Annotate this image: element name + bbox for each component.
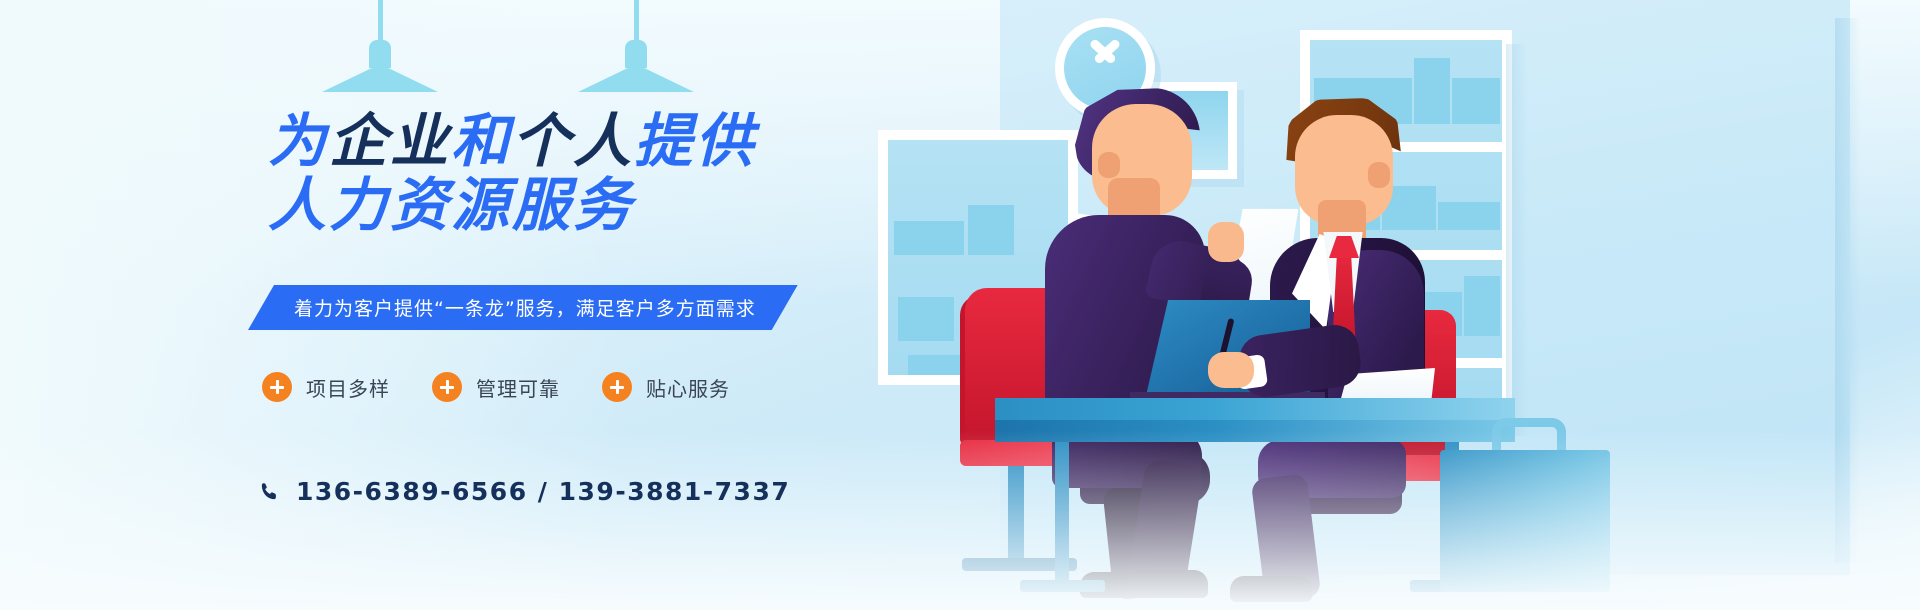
plus-icon xyxy=(262,372,292,402)
feature-label: 管理可靠 xyxy=(476,373,560,402)
lamp-cord xyxy=(634,0,639,42)
plus-icon xyxy=(602,372,632,402)
subtitle-text: 着力为客户提供“一条龙”服务，满足客户多方面需求 xyxy=(294,294,756,321)
phone-number-text: 136-6389-6566 / 139-3881-7337 xyxy=(296,477,790,506)
phone-icon xyxy=(258,481,280,503)
lamp-cord xyxy=(378,0,383,42)
feature-label: 贴心服务 xyxy=(646,373,730,402)
left-person-hand-upper xyxy=(1208,222,1244,262)
headline-seg: 提供 xyxy=(634,107,756,175)
feature-item[interactable]: 贴心服务 xyxy=(602,372,730,402)
subtitle-banner: 着力为客户提供“一条龙”服务，满足客户多方面需求 xyxy=(248,285,798,330)
hr-service-banner: 为企业和个人提供 人力资源服务 着力为客户提供“一条龙”服务，满足客户多方面需求… xyxy=(0,0,1920,610)
headline-seg: 人力资源服务 xyxy=(268,171,634,239)
feature-item[interactable]: 项目多样 xyxy=(262,372,390,402)
headline-line-2: 人力资源服务 xyxy=(268,158,634,242)
pendant-lamp-icon xyxy=(322,0,438,95)
lamp-shade xyxy=(578,64,694,92)
plus-icon xyxy=(432,372,462,402)
bookshelf-shadow xyxy=(1506,44,1528,436)
feature-item[interactable]: 管理可靠 xyxy=(432,372,560,402)
feature-label: 项目多样 xyxy=(306,373,390,402)
background-gradient-bottom xyxy=(0,430,1920,610)
right-person-hand xyxy=(1208,352,1254,388)
contact-phone[interactable]: 136-6389-6566 / 139-3881-7337 xyxy=(258,477,790,506)
lamp-shade xyxy=(322,64,438,92)
left-person-ear xyxy=(1098,152,1120,178)
pendant-lamp-icon xyxy=(578,0,694,95)
right-person-ear xyxy=(1368,162,1390,188)
desk-top xyxy=(995,398,1515,420)
feature-list: 项目多样 管理可靠 贴心服务 xyxy=(262,372,730,402)
